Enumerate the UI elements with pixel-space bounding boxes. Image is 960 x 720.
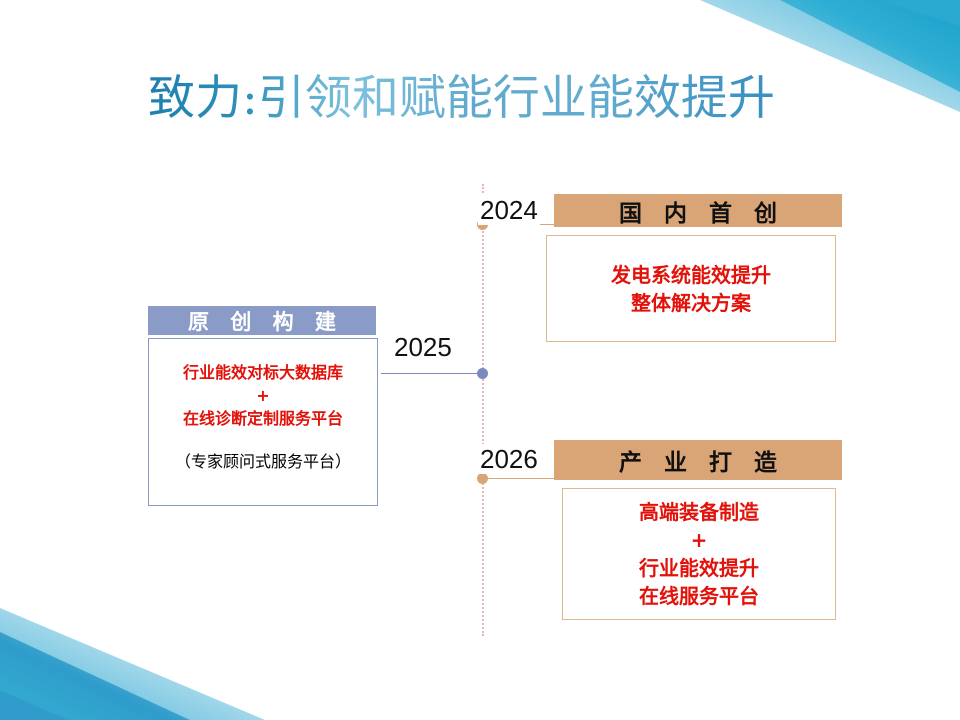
year-label-2025: 2025 [392, 332, 454, 362]
slide-canvas: 致力:引领和赋能行业能效提升 2024 2025 2026 国 内 首 创 发电… [0, 0, 960, 720]
card-body-line: 行业能效提升 [639, 554, 759, 582]
connector-2026 [482, 478, 554, 479]
card-body-2026: 高端装备制造 + 行业能效提升 在线服务平台 [562, 488, 836, 620]
bottom-left-corner-shape [0, 608, 265, 720]
card-header-2024: 国 内 首 创 [554, 194, 842, 227]
card-body-line: + [256, 384, 269, 407]
card-header-2026: 产 业 打 造 [554, 440, 842, 480]
timeline-node-dot-2025[interactable] [477, 368, 488, 379]
page-title: 致力:引领和赋能行业能效提升 [148, 69, 828, 131]
card-body-line: 行业能效对标大数据库 [183, 361, 343, 384]
card-body-2025: 行业能效对标大数据库 + 在线诊断定制服务平台 （专家顾问式服务平台） [148, 338, 378, 506]
card-header-2025: 原 创 构 建 [148, 306, 376, 335]
card-body-2024: 发电系统能效提升 整体解决方案 [546, 235, 836, 342]
year-label-2026: 2026 [478, 444, 540, 474]
card-body-line: 高端装备制造 [639, 498, 759, 526]
card-body-line: + [691, 526, 708, 554]
connector-2025 [381, 373, 482, 374]
card-body-line: 在线诊断定制服务平台 [183, 407, 343, 430]
card-body-line: 整体解决方案 [631, 289, 751, 317]
card-body-line: 在线服务平台 [639, 582, 759, 610]
timeline-spine [482, 184, 484, 636]
card-body-note-2025: （专家顾问式服务平台） [175, 448, 351, 472]
timeline-node-dot-2026[interactable] [477, 473, 488, 484]
card-body-line: 发电系统能效提升 [611, 261, 771, 289]
year-label-2024: 2024 [478, 195, 540, 225]
